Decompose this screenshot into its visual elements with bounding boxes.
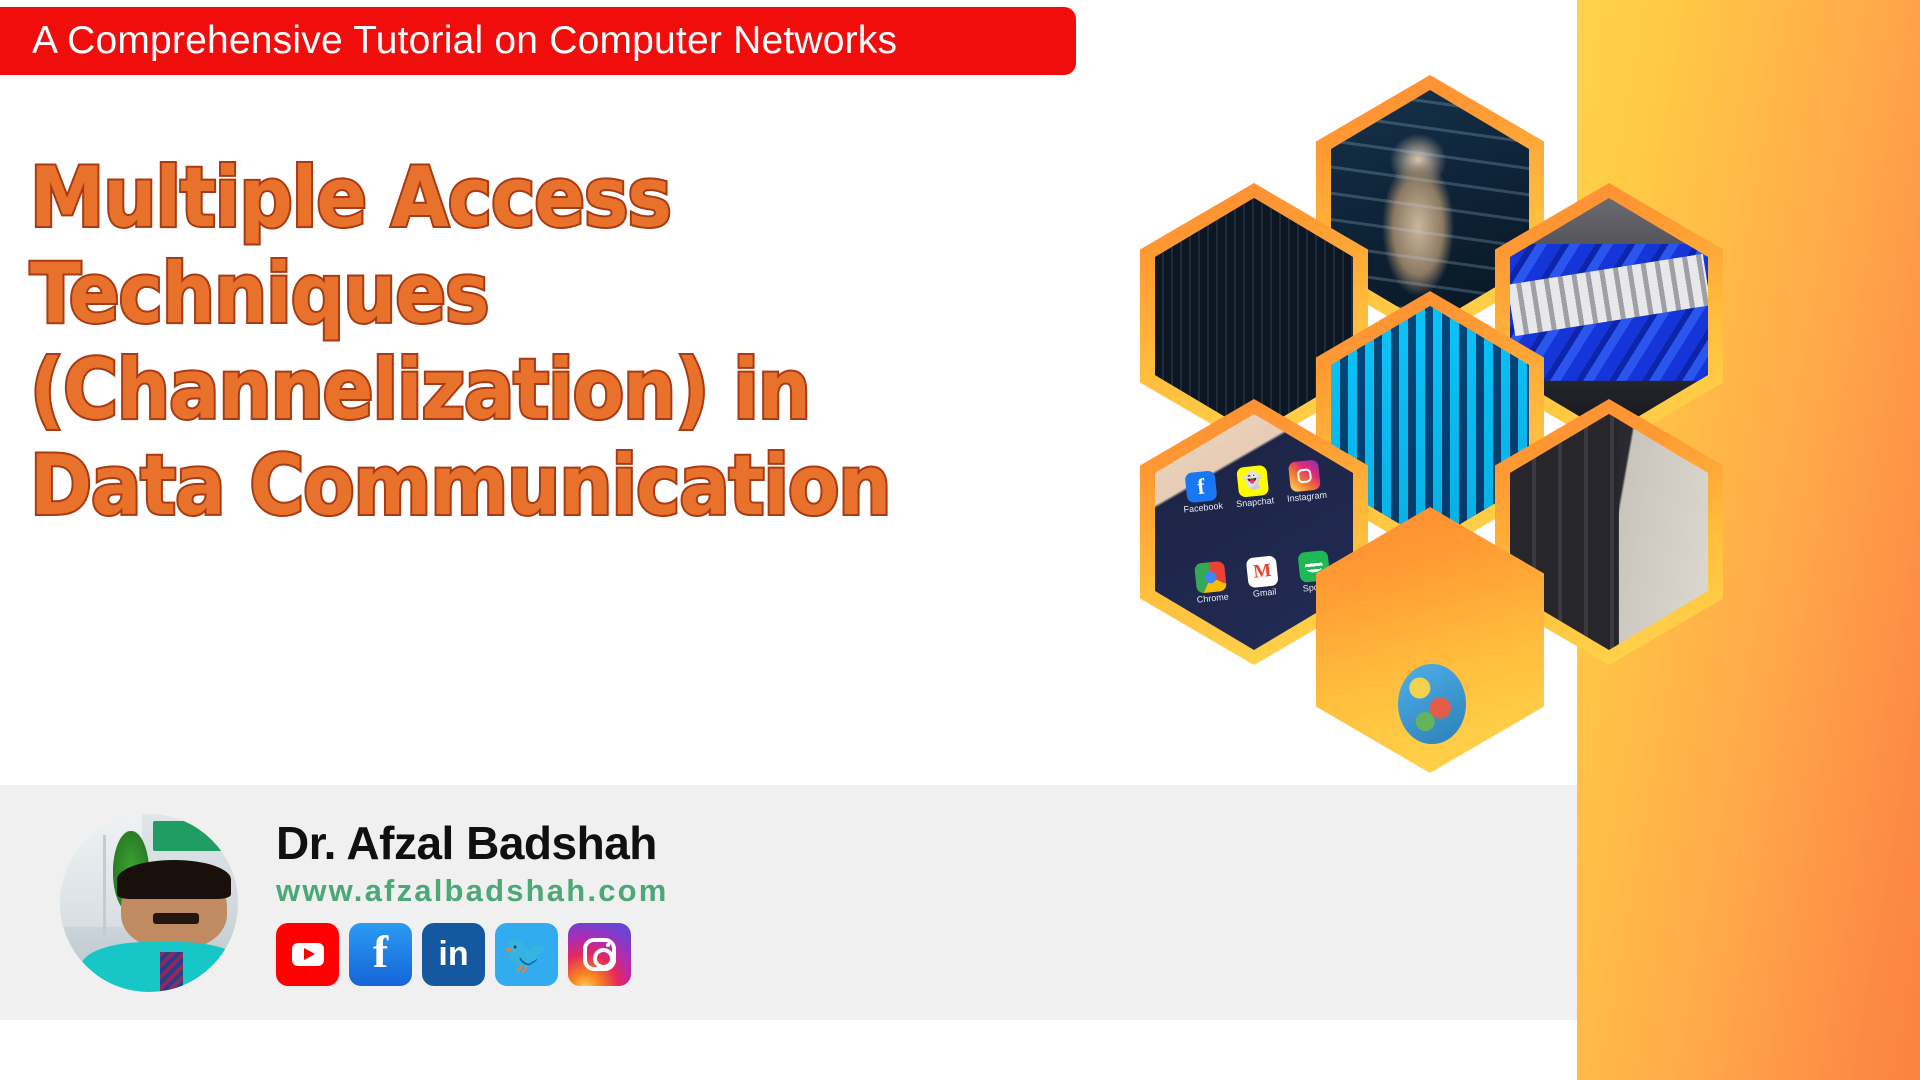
phone-app-label: Gmail xyxy=(1252,587,1276,598)
instagram-icon xyxy=(1288,459,1321,492)
gmail-icon xyxy=(1246,555,1279,588)
title-line-1: Multiple Access xyxy=(30,150,930,246)
phone-app-instagram: Instagram xyxy=(1275,435,1334,528)
phone-app-chrome: Chrome xyxy=(1181,536,1240,629)
snapchat-icon: 👻 xyxy=(1236,465,1269,498)
author-info: Dr. Afzal Badshah www.afzalbadshah.com f… xyxy=(276,819,669,986)
youtube-icon[interactable] xyxy=(276,923,339,986)
phone-app-facebook: f Facebook xyxy=(1172,446,1231,539)
instagram-icon[interactable] xyxy=(568,923,631,986)
chrome-icon xyxy=(1194,561,1227,594)
author-footer-bar: Dr. Afzal Badshah www.afzalbadshah.com f… xyxy=(0,785,1577,1020)
avatar xyxy=(60,814,238,992)
social-links: f in 🐦 xyxy=(276,923,669,986)
facebook-icon: f xyxy=(1184,470,1217,503)
author-website[interactable]: www.afzalbadshah.com xyxy=(276,873,669,909)
hexagon-image-cluster: f Facebook 👻 Snapchat Instagram Chrome xyxy=(1110,75,1810,905)
linkedin-icon[interactable]: in xyxy=(422,923,485,986)
top-banner: A Comprehensive Tutorial on Computer Net… xyxy=(0,7,1076,75)
phone-app-label: Snapchat xyxy=(1235,496,1274,509)
phone-app-label: Instagram xyxy=(1286,491,1327,504)
title-line-2: Techniques xyxy=(30,246,930,342)
title-line-4: Data Communication xyxy=(30,438,930,534)
phone-app-label: Facebook xyxy=(1183,502,1223,515)
page-title: Multiple Access Techniques (Channelizati… xyxy=(30,150,930,534)
banner-text: A Comprehensive Tutorial on Computer Net… xyxy=(32,19,897,63)
phone-app-label: Chrome xyxy=(1196,592,1229,604)
phone-app-snapchat: 👻 Snapchat xyxy=(1224,440,1283,533)
twitter-icon[interactable]: 🐦 xyxy=(495,923,558,986)
author-name: Dr. Afzal Badshah xyxy=(276,819,669,867)
title-line-3: (Channelization) in xyxy=(30,342,930,438)
hex-photo-globe-on-grass xyxy=(1331,522,1529,758)
facebook-icon[interactable]: f xyxy=(349,923,412,986)
phone-app-gmail: Gmail xyxy=(1233,530,1292,623)
